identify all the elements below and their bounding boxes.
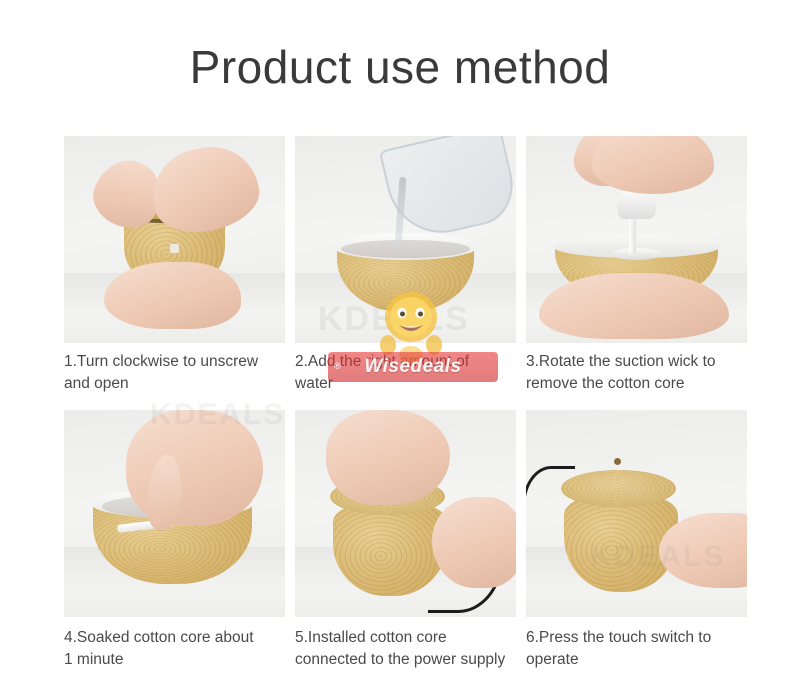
step-3-caption: 3.Rotate the suction wick to remove the …	[526, 351, 747, 396]
page-title: Product use method	[0, 0, 800, 93]
diffuser-lid	[561, 470, 676, 507]
body-logo-mark	[170, 244, 179, 253]
step-6-caption: 6.Press the touch switch to operate	[526, 627, 747, 672]
upper-hand	[592, 136, 714, 194]
step-4-caption: 4.Soaked cotton core about 1 minute	[64, 627, 285, 672]
step-5-caption: 5.Installed cotton core connected to the…	[295, 627, 516, 672]
step-card-2: 2.Add the right amount of water	[295, 136, 516, 396]
step-2-caption: 2.Add the right amount of water	[295, 351, 516, 396]
step-5-photo-install-and-connect-power	[295, 410, 516, 617]
mist-vent-hole	[614, 458, 621, 465]
step-2-photo-add-water	[295, 136, 516, 343]
supporting-hand	[104, 262, 241, 328]
wick-foot	[612, 248, 661, 260]
steps-row-1: 1.Turn clockwise to unscrew and open 2.A…	[64, 136, 748, 396]
step-card-3: 3.Rotate the suction wick to remove the …	[526, 136, 747, 396]
step-card-1: 1.Turn clockwise to unscrew and open	[64, 136, 285, 396]
step-card-6: 6.Press the touch switch to operate	[526, 410, 747, 672]
step-4-photo-soak-cotton-core	[64, 410, 285, 617]
step-1-caption: 1.Turn clockwise to unscrew and open	[64, 351, 285, 396]
steps-row-2: 4.Soaked cotton core about 1 minute 5.In…	[64, 410, 748, 672]
step-1-photo-unscrew-open	[64, 136, 285, 343]
step-card-5: 5.Installed cotton core connected to the…	[295, 410, 516, 672]
step-card-4: 4.Soaked cotton core about 1 minute	[64, 410, 285, 672]
step-6-photo-press-touch-switch	[526, 410, 747, 617]
water-surface	[341, 240, 469, 259]
steps-grid: 1.Turn clockwise to unscrew and open 2.A…	[64, 136, 748, 672]
step-3-photo-rotate-suction-wick	[526, 136, 747, 343]
product-instruction-page: Product use method 1.Turn clockwise to u…	[0, 0, 800, 684]
cable-hand	[432, 497, 516, 588]
lid-hand	[326, 410, 450, 505]
